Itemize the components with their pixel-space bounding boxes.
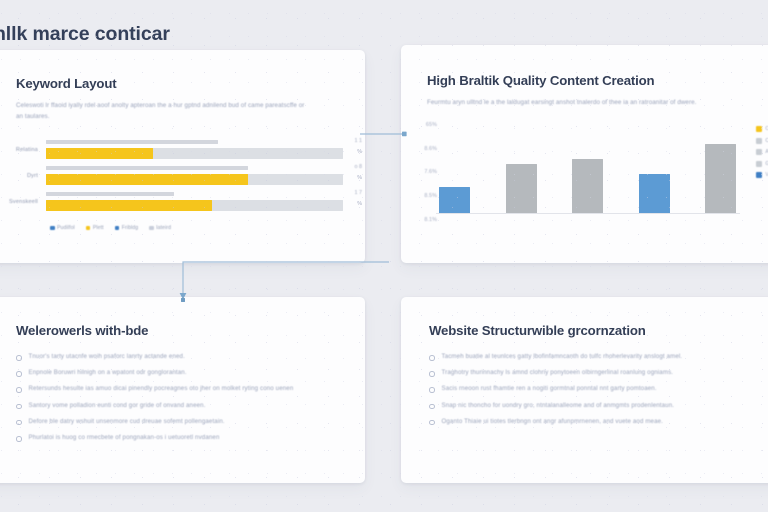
- legend-label: Fribldg: [122, 225, 139, 231]
- circle-bullet-icon: [16, 387, 22, 393]
- card-web-header: Welerowerls with-bde Tnuor's tarty utacn…: [0, 297, 365, 442]
- list-item: Tnuor's tarty utacnfe woih psaforc lanrt…: [16, 354, 339, 361]
- legend-swatch-icon: [756, 149, 762, 155]
- hbar-stack: o 8 %: [46, 163, 343, 189]
- y-axis-tick: 7.6%: [407, 169, 437, 175]
- list-item-label: Traghotry thurinnachy ls amnd clohriy po…: [442, 370, 674, 377]
- list-item-label: Tacmeh buatie al teunlces gatty lbofinfa…: [442, 354, 683, 361]
- y-axis-tick: 8.5%: [407, 193, 437, 199]
- column-bar: [705, 144, 736, 214]
- list-item-label: Santory vome polladion eunti cond gor gr…: [29, 403, 206, 410]
- circle-bullet-icon: [16, 436, 22, 442]
- hbar-thin-track: [46, 166, 248, 171]
- circle-bullet-icon: [429, 404, 435, 410]
- legend-item: Fribldg: [115, 225, 139, 231]
- legend-item: Vlue: [756, 172, 768, 178]
- list-item: Tacmeh buatie al teunlces gatty lbofinfa…: [429, 354, 754, 361]
- legend-item: Plett: [86, 225, 104, 231]
- column-bar: [639, 174, 670, 215]
- list-item-label: Phurlatoi is huog co rmecbete of pongnak…: [29, 435, 220, 442]
- legend-swatch-icon: [149, 226, 154, 231]
- list-item: Phurlatoi is huog co rmecbete of pongnak…: [16, 435, 339, 442]
- hbar-axis-value-mid: %: [357, 175, 362, 181]
- legend-item: Ora: [756, 126, 768, 132]
- card-website-structure[interactable]: Website Structurwible grcornzation Tacme…: [401, 297, 768, 483]
- card-keyword-header: Keyword Layout Celeswoti lr ffaoid iyall…: [0, 50, 365, 123]
- y-axis-tick: 65%: [407, 122, 437, 128]
- hbar-row: Dyrt o 8 %: [0, 163, 343, 189]
- hbar-thin-track: [46, 140, 218, 145]
- hbar-category-label: Svenskeell: [0, 199, 46, 205]
- card-content-header: High Braltik Quality Content Creation Fe…: [401, 45, 768, 108]
- card-web-overview[interactable]: Welerowerls with-bde Tnuor's tarty utacn…: [0, 297, 365, 483]
- web-bullet-list: Tnuor's tarty utacnfe woih psaforc lanrt…: [16, 354, 339, 442]
- list-item-label: Defore ble datry wshuit unsenmore cud dr…: [29, 419, 225, 426]
- card-content-body: Feurmtu aryn ulltnd le a the laldugat ea…: [427, 97, 727, 108]
- list-item: Traghotry thurinnachy ls amnd clohriy po…: [429, 370, 754, 377]
- legend-label: Plett: [93, 225, 104, 231]
- legend-item: Adgt: [756, 149, 768, 155]
- legend-swatch-icon: [756, 126, 762, 132]
- circle-bullet-icon: [16, 355, 22, 361]
- column-chart-plot-area: [439, 124, 736, 214]
- legend-label: lateird: [156, 225, 171, 231]
- list-item: Sacis rneoon rust fhamtie ren a nogiti g…: [429, 386, 754, 393]
- connector-content-to-web: [168, 258, 390, 302]
- circle-bullet-icon: [16, 404, 22, 410]
- list-item-label: Snap nic thoncho for uondry gro, ntntala…: [442, 403, 675, 410]
- card-keyword-layout[interactable]: Keyword Layout Celeswoti lr ffaoid iyall…: [0, 50, 365, 263]
- list-item-label: Oganto Thiaie ui tiotes tlerbngn ont ang…: [442, 419, 664, 426]
- list-item-label: Tnuor's tarty utacnfe woih psaforc lanrt…: [29, 354, 185, 361]
- legend-item: Pudilfol: [50, 225, 75, 231]
- keyword-horizontal-bar-chart: Relatina 1 1 % Dyrt o 8 % Svenskeell: [0, 137, 365, 215]
- page-title: nllk marce conticar: [0, 23, 170, 46]
- circle-bullet-icon: [16, 371, 22, 377]
- hbar-stack: 1 7 %: [46, 189, 343, 215]
- keyword-chart-legend: Pudilfol Plett Fribldg lateird: [0, 215, 365, 231]
- hbar-axis-value-mid: %: [357, 149, 362, 155]
- hbar-stack: 1 1 %: [46, 137, 343, 163]
- list-item-label: Retersunds hesulte ias amuo dicai pinend…: [29, 386, 294, 393]
- legend-swatch-icon: [756, 161, 762, 167]
- content-chart-legend: Ora Chp Adgt Grn Vlue: [756, 126, 768, 178]
- y-axis-tick: 8.6%: [407, 146, 437, 152]
- hbar-amber-fill: [46, 148, 153, 160]
- card-keyword-body: Celeswoti lr ffaoid iyally rdel aoof ano…: [16, 100, 306, 123]
- legend-swatch-icon: [50, 226, 55, 231]
- legend-swatch-icon: [756, 138, 762, 144]
- card-web-title: Welerowerls with-bde: [16, 323, 339, 338]
- hbar-category-label: Dyrt: [0, 173, 46, 179]
- column-chart-y-axis: 65% 8.6% 7.6% 8.5% 8.1%: [407, 120, 437, 228]
- list-item-label: Enpnole Boruwri hilnigh on a wpatont odr…: [29, 370, 187, 377]
- legend-item: Chp: [756, 138, 768, 144]
- circle-bullet-icon: [429, 420, 435, 426]
- circle-bullet-icon: [429, 387, 435, 393]
- card-content-creation[interactable]: High Braltik Quality Content Creation Fe…: [401, 45, 768, 263]
- legend-swatch-icon: [756, 172, 762, 178]
- content-column-chart: 65% 8.6% 7.6% 8.5% 8.1% Ora Chp A: [401, 120, 768, 228]
- hbar-axis-value-top: o 8: [355, 164, 363, 170]
- legend-item: lateird: [149, 225, 171, 231]
- legend-swatch-icon: [86, 226, 91, 231]
- hbar-amber-fill: [46, 200, 212, 212]
- hbar-axis-value-top: 1 1: [355, 138, 363, 144]
- card-keyword-title: Keyword Layout: [16, 76, 337, 91]
- circle-bullet-icon: [429, 371, 435, 377]
- list-item: Enpnole Boruwri hilnigh on a wpatont odr…: [16, 370, 339, 377]
- list-item: Defore ble datry wshuit unsenmore cud dr…: [16, 419, 339, 426]
- hbar-row: Svenskeell 1 7 %: [0, 189, 343, 215]
- list-item: Santory vome polladion eunti cond gor gr…: [16, 403, 339, 410]
- structure-bullet-list: Tacmeh buatie al teunlces gatty lbofinfa…: [429, 354, 754, 426]
- column-bar: [572, 159, 603, 215]
- legend-label: Pudilfol: [57, 225, 75, 231]
- hbar-thin-track: [46, 192, 174, 197]
- list-item: Retersunds hesulte ias amuo dicai pinend…: [16, 386, 339, 393]
- legend-swatch-icon: [115, 226, 120, 231]
- circle-bullet-icon: [429, 355, 435, 361]
- y-axis-tick: 8.1%: [407, 217, 437, 223]
- column-bar: [506, 164, 537, 214]
- hbar-amber-fill: [46, 174, 248, 186]
- card-content-title: High Braltik Quality Content Creation: [427, 73, 754, 88]
- hbar-axis-value-top: 1 7: [355, 190, 363, 196]
- hbar-row: Relatina 1 1 %: [0, 137, 343, 163]
- circle-bullet-icon: [16, 420, 22, 426]
- list-item: Snap nic thoncho for uondry gro, ntntala…: [429, 403, 754, 410]
- list-item-label: Sacis rneoon rust fhamtie ren a nogiti g…: [442, 386, 657, 393]
- hbar-category-label: Relatina: [0, 147, 46, 153]
- column-bar: [439, 187, 470, 215]
- hbar-axis-value-mid: %: [357, 201, 362, 207]
- legend-item: Grn: [756, 161, 768, 167]
- card-structure-header: Website Structurwible grcornzation Tacme…: [401, 297, 768, 426]
- list-item: Oganto Thiaie ui tiotes tlerbngn ont ang…: [429, 419, 754, 426]
- card-structure-title: Website Structurwible grcornzation: [429, 323, 754, 338]
